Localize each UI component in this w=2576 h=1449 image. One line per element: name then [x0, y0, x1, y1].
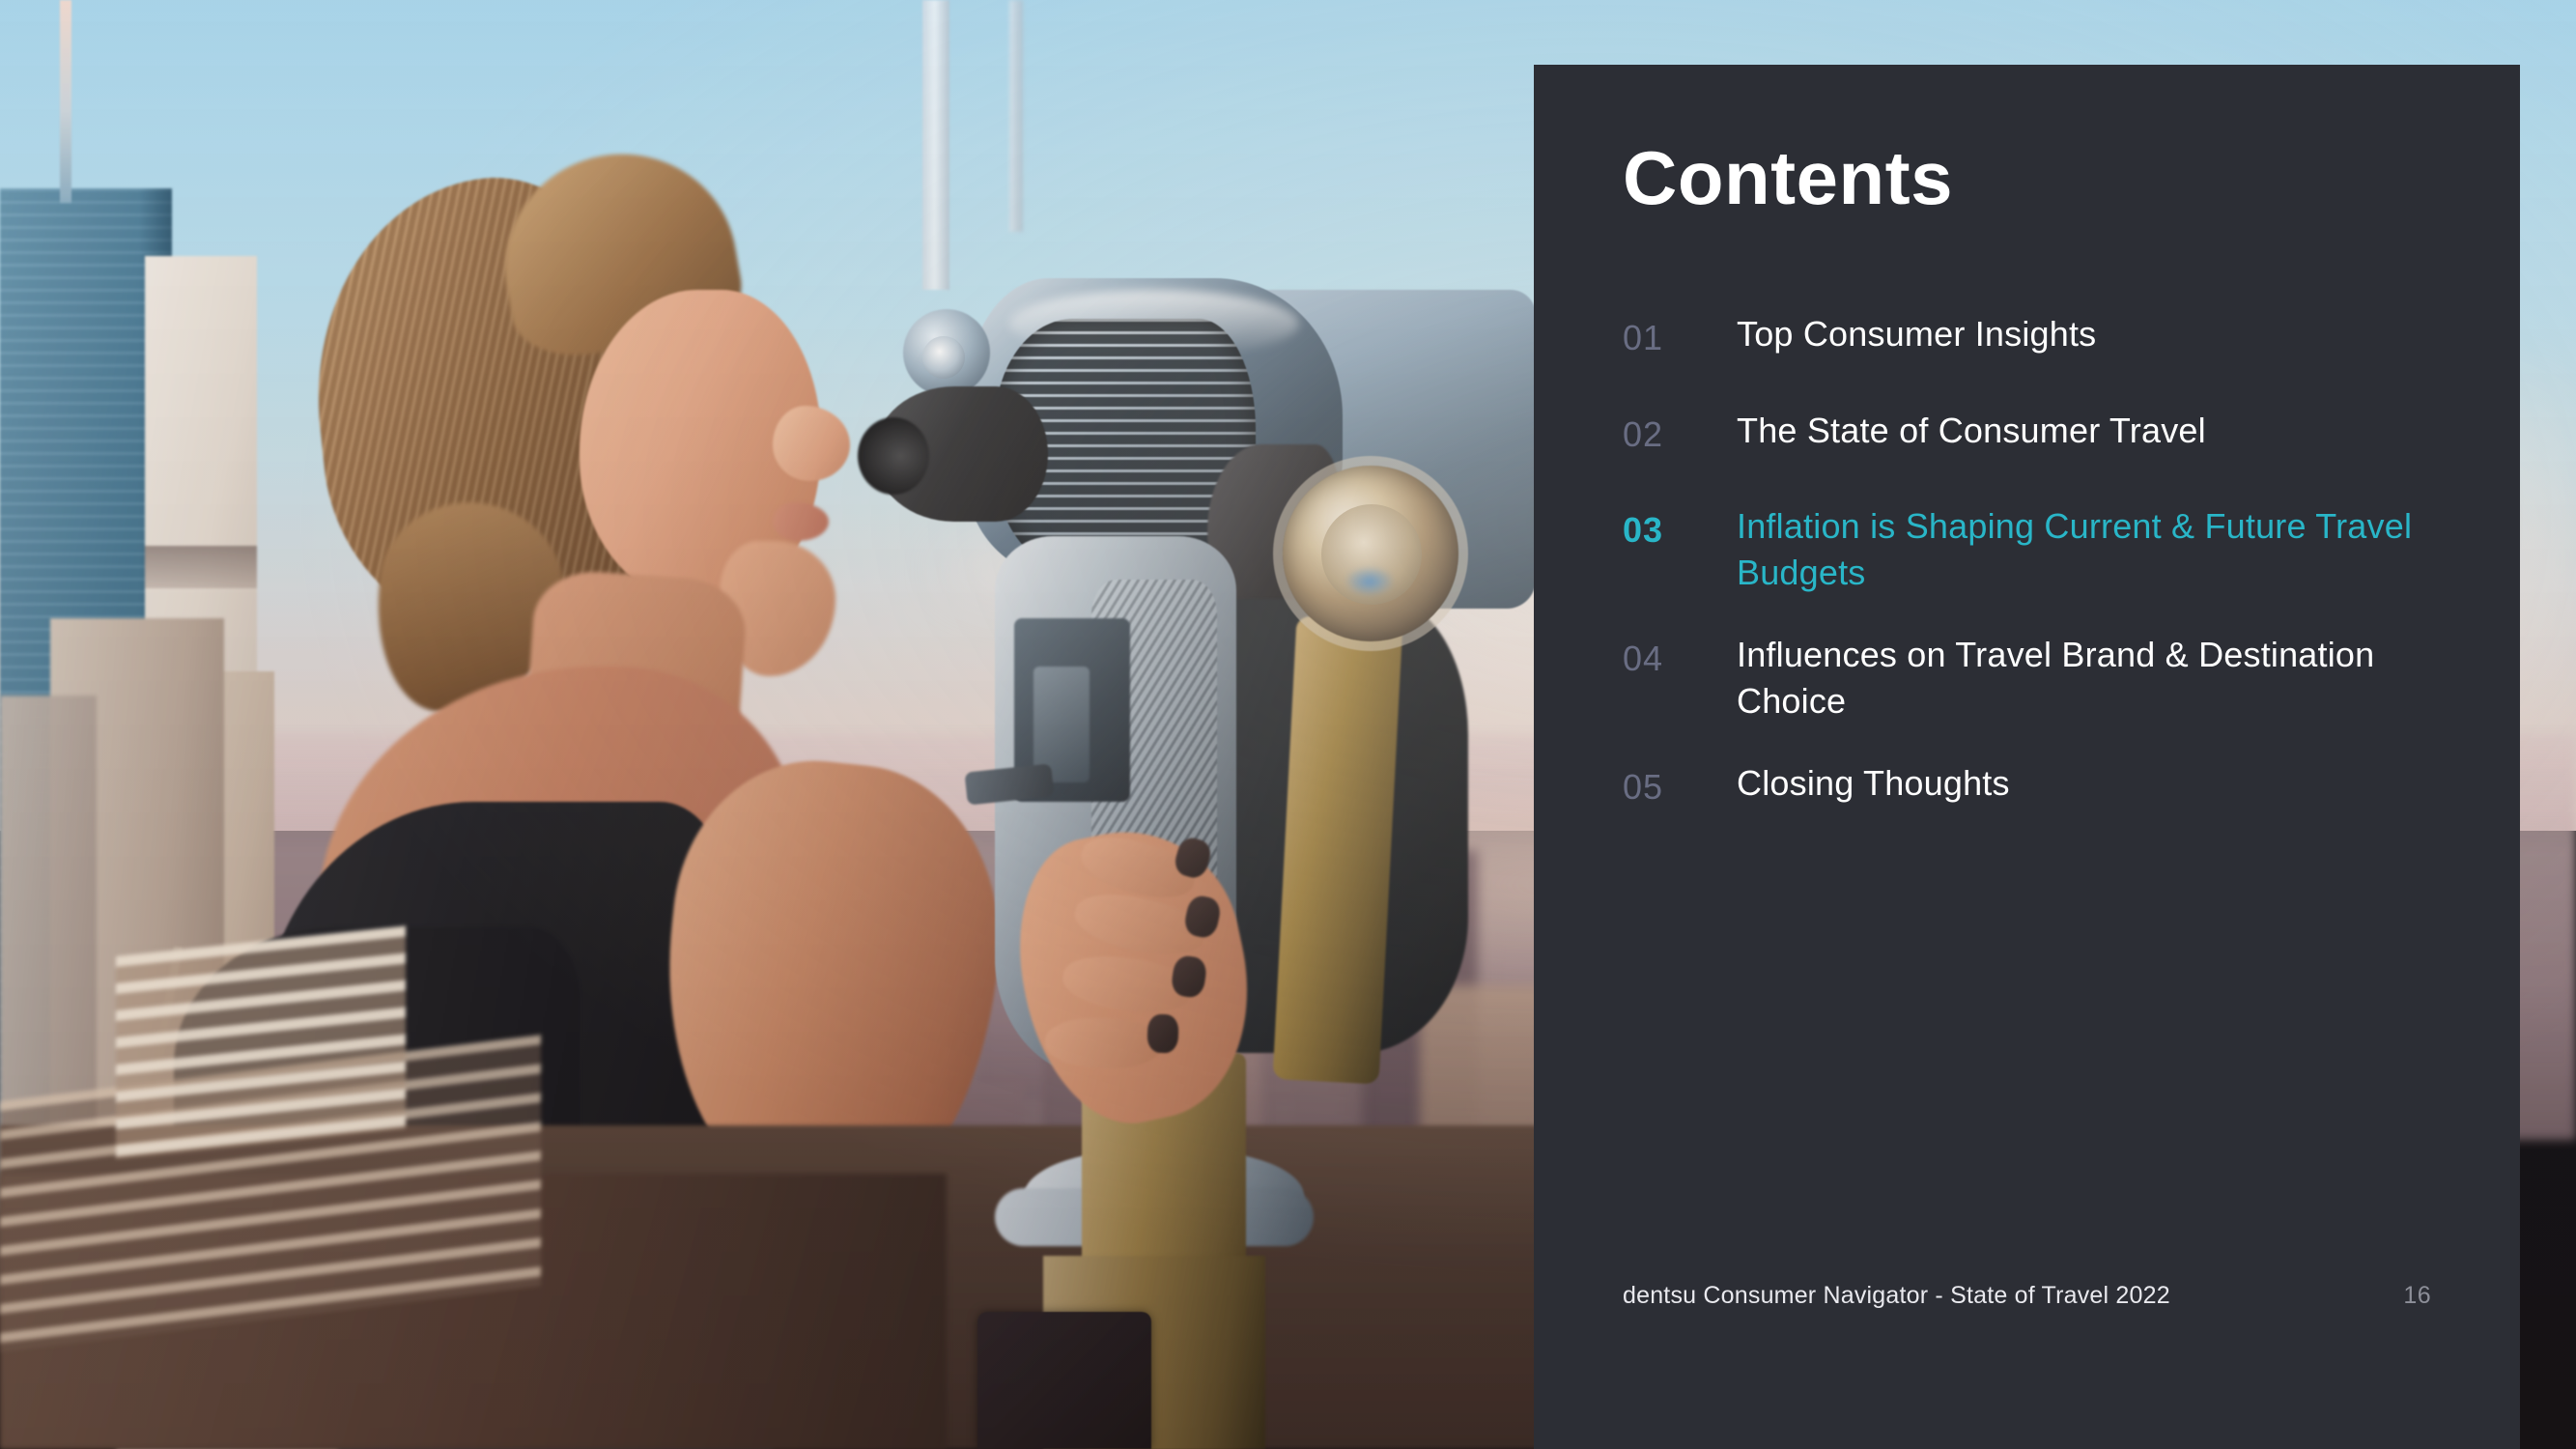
contents-panel: Contents 01 Top Consumer Insights 02 The…: [1534, 65, 2520, 1449]
footer-source: dentsu Consumer Navigator - State of Tra…: [1623, 1282, 2170, 1310]
antenna-spire: [60, 0, 71, 203]
toc-item-04[interactable]: 04 Influences on Travel Brand & Destinat…: [1623, 632, 2473, 724]
toc-number: 02: [1623, 408, 1737, 458]
toc-number: 01: [1623, 311, 1737, 361]
toc-label: The State of Consumer Travel: [1737, 408, 2206, 454]
toc-label: Top Consumer Insights: [1737, 311, 2096, 357]
toc-number: 05: [1623, 760, 1737, 810]
fingernail: [1146, 1013, 1178, 1053]
page-title: Contents: [1623, 140, 1953, 215]
tower-viewer-knob-center: [922, 336, 965, 379]
toc-item-03[interactable]: 03 Inflation is Shaping Current & Future…: [1623, 503, 2473, 595]
toc-number: 03: [1623, 503, 1737, 554]
slide-footer: dentsu Consumer Navigator - State of Tra…: [1623, 1282, 2431, 1310]
slide: Contents 01 Top Consumer Insights 02 The…: [0, 0, 2576, 1449]
toc-item-01[interactable]: 01 Top Consumer Insights: [1623, 311, 2473, 361]
page-number: 16: [2403, 1282, 2431, 1310]
toc-label: Inflation is Shaping Current & Future Tr…: [1737, 503, 2432, 595]
railing-lit: [116, 925, 406, 1159]
tower-viewer-lens-flare: [1345, 566, 1395, 597]
toc-item-05[interactable]: 05 Closing Thoughts: [1623, 760, 2473, 810]
table-of-contents: 01 Top Consumer Insights 02 The State of…: [1623, 311, 2473, 810]
pole: [922, 0, 949, 290]
instruction-plaque: [977, 1312, 1151, 1449]
toc-label: Closing Thoughts: [1737, 760, 2010, 807]
toc-number: 04: [1623, 632, 1737, 682]
pole: [1009, 0, 1023, 232]
tower-viewer-eyepiece: [858, 417, 929, 495]
toc-item-02[interactable]: 02 The State of Consumer Travel: [1623, 408, 2473, 458]
toc-label: Influences on Travel Brand & Destination…: [1737, 632, 2432, 724]
